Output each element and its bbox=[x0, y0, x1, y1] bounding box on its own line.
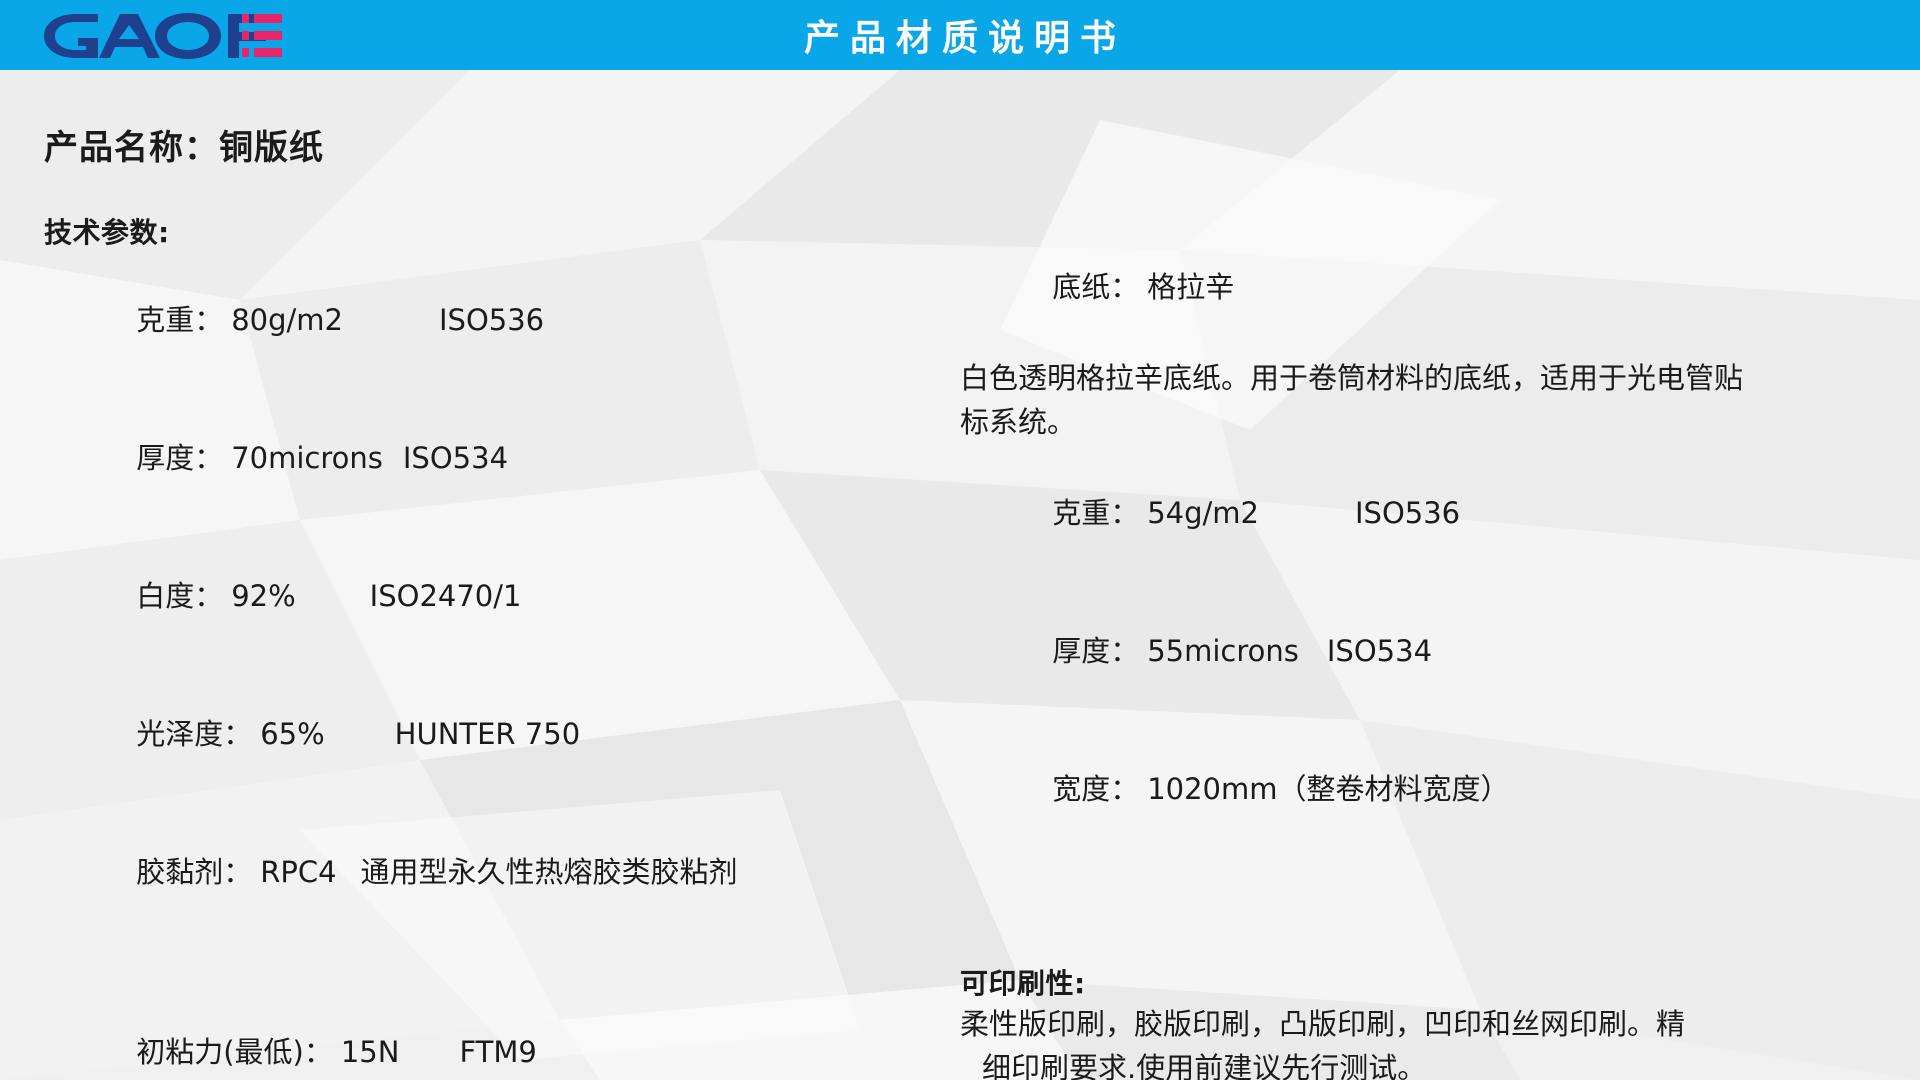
table-row: 白度：92%ISO2470/1 bbox=[44, 527, 924, 665]
table-row: 胶黏剂：RPC4通用型永久性热熔胶类胶粘剂 bbox=[44, 803, 924, 941]
param-value: 65% bbox=[260, 717, 324, 751]
content-area: 产品名称：铜版纸 技术参数: 克重：80g/m2ISO536 厚度：70micr… bbox=[0, 70, 1920, 1080]
liner-label: 底纸： bbox=[1052, 270, 1139, 304]
table-row: 厚度：55micronsISO534 bbox=[960, 582, 1860, 720]
param-value: 92% bbox=[231, 579, 295, 613]
param-standard: 通用型永久性热熔胶类胶粘剂 bbox=[361, 855, 738, 889]
printability-block: 可印刷性: 柔性版印刷，胶版印刷，凸版印刷，凹印和丝网印刷。精 细印刷要求.使用… bbox=[960, 962, 1860, 1080]
param-standard: ISO536 bbox=[439, 303, 544, 337]
table-row: 宽度：1020mm（整卷材料宽度） bbox=[960, 720, 1860, 858]
param-label: 胶黏剂： bbox=[136, 855, 252, 889]
adhesion-block: 初粘力(最低)：15NFTM9 持粘力(最低)：5hFTM8 贴标低温度：5℃ … bbox=[44, 983, 924, 1080]
spacer bbox=[960, 914, 1860, 962]
param-standard: （整卷材料宽度） bbox=[1278, 772, 1510, 806]
product-spec-sheet: 产品材质说明书 产品名称：铜版纸 技术参数: 克重：80g/m2ISO536 厚… bbox=[0, 0, 1920, 1080]
param-standard: ISO2470/1 bbox=[370, 579, 522, 613]
param-value: 80g/m2 bbox=[231, 303, 343, 337]
param-standard: ISO534 bbox=[1327, 634, 1432, 668]
spacer bbox=[960, 858, 1860, 914]
param-label: 厚度： bbox=[136, 441, 223, 475]
liner-value: 格拉辛 bbox=[1147, 270, 1234, 304]
param-standard: ISO534 bbox=[403, 441, 508, 475]
param-label: 光泽度： bbox=[136, 717, 252, 751]
table-row: 克重：54g/m2ISO536 bbox=[960, 444, 1860, 582]
table-row: 光泽度：65%HUNTER 750 bbox=[44, 665, 924, 803]
spacer bbox=[44, 941, 924, 983]
param-standard: ISO536 bbox=[1355, 496, 1460, 530]
page-header: 产品材质说明书 bbox=[0, 0, 1920, 70]
page-title: 产品材质说明书 bbox=[0, 0, 1920, 70]
param-label: 克重： bbox=[136, 303, 223, 337]
liner-row: 底纸：格拉辛 bbox=[960, 218, 1860, 356]
param-standard: HUNTER 750 bbox=[395, 717, 580, 751]
table-row: 厚度：70micronsISO534 bbox=[44, 389, 924, 527]
param-value: 54g/m2 bbox=[1147, 496, 1259, 530]
param-label: 宽度： bbox=[1052, 772, 1139, 806]
param-label: 初粘力(最低)： bbox=[136, 1035, 333, 1069]
table-row: 克重：80g/m2ISO536 bbox=[44, 251, 924, 389]
right-column: 底纸：格拉辛 白色透明格拉辛底纸。用于卷筒材料的底纸，适用于光电管贴标系统。 克… bbox=[960, 70, 1860, 1080]
param-label: 克重： bbox=[1052, 496, 1139, 530]
left-column: 产品名称：铜版纸 技术参数: 克重：80g/m2ISO536 厚度：70micr… bbox=[44, 70, 924, 1080]
printability-line: 柔性版印刷，胶版印刷，凸版印刷，凹印和丝网印刷。精 bbox=[960, 1002, 1860, 1046]
param-label: 厚度： bbox=[1052, 634, 1139, 668]
spacer bbox=[960, 70, 1860, 218]
tech-params-heading: 技术参数: bbox=[44, 211, 924, 251]
tech-params-block: 技术参数: 克重：80g/m2ISO536 厚度：70micronsISO534… bbox=[44, 211, 924, 941]
param-value: RPC4 bbox=[260, 855, 336, 889]
liner-description: 白色透明格拉辛底纸。用于卷筒材料的底纸，适用于光电管贴标系统。 bbox=[960, 356, 1760, 444]
product-name: 产品名称：铜版纸 bbox=[44, 120, 924, 169]
param-label: 白度： bbox=[136, 579, 223, 613]
param-value: 15N bbox=[341, 1035, 400, 1069]
param-value: 55microns bbox=[1147, 634, 1299, 668]
printability-heading: 可印刷性: bbox=[960, 962, 1860, 1002]
param-value: 70microns bbox=[231, 441, 383, 475]
liner-block: 底纸：格拉辛 白色透明格拉辛底纸。用于卷筒材料的底纸，适用于光电管贴标系统。 克… bbox=[960, 218, 1860, 858]
table-row: 初粘力(最低)：15NFTM9 bbox=[44, 983, 924, 1080]
printability-line: 细印刷要求.使用前建议先行测试。 bbox=[960, 1046, 1860, 1080]
param-value: 1020mm bbox=[1147, 772, 1277, 806]
param-standard: FTM9 bbox=[459, 1035, 536, 1069]
